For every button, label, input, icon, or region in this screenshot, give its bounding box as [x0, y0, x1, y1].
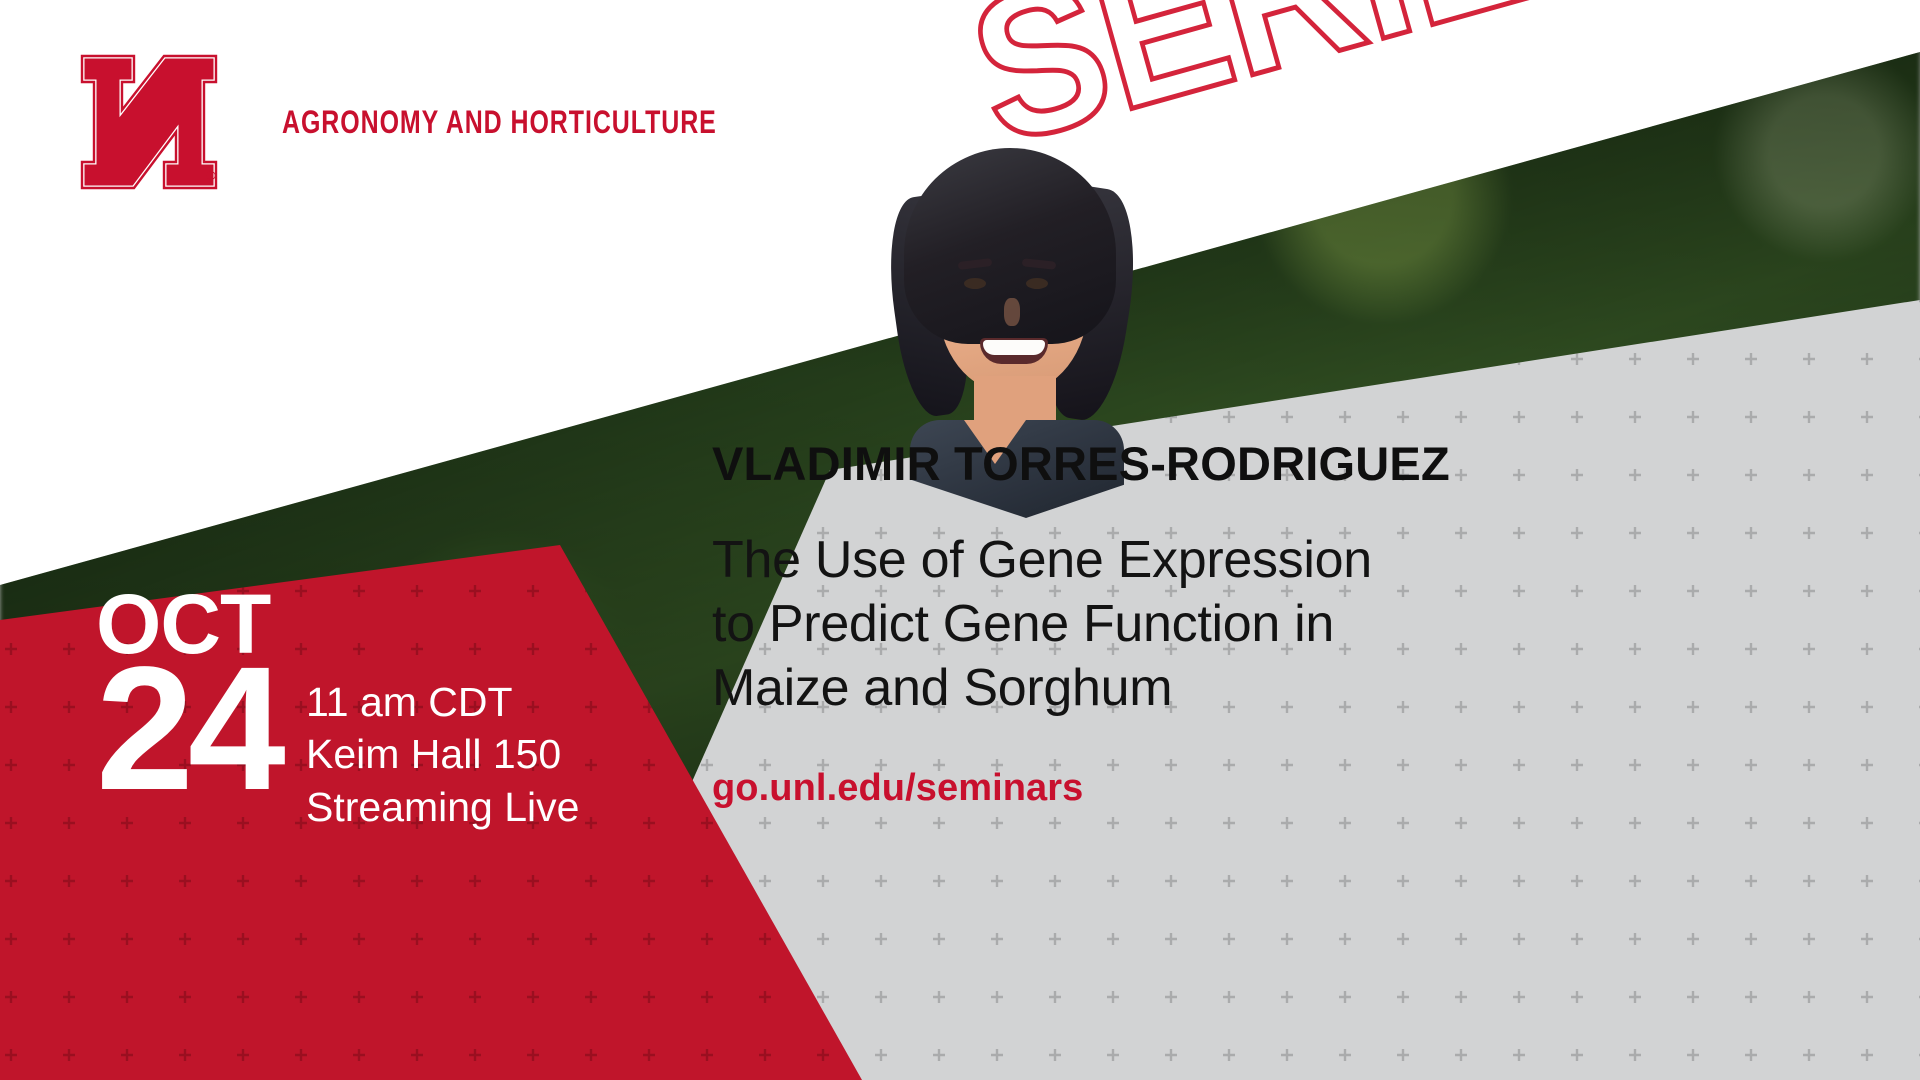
speaker-info: VLADIMIR TORRES-RODRIGUEZ The Use of Gen… [712, 440, 1532, 810]
seminar-title: The Use of Gene Expression to Predict Ge… [712, 529, 1532, 721]
headline-series: SERIES [955, 0, 1669, 169]
seminars-url-link[interactable]: go.unl.edu/seminars [712, 767, 1532, 810]
nebraska-n-icon [78, 52, 220, 192]
registered-trademark-icon: ® [206, 168, 216, 183]
seminar-title-line-2: to Predict Gene Function in [712, 593, 1532, 657]
seminar-title-line-3: Maize and Sorghum [712, 657, 1532, 721]
event-details: 11 am CDT Keim Hall 150 Streaming Live [306, 676, 579, 833]
portrait-nose [1004, 298, 1020, 326]
event-day: 24 [96, 657, 280, 801]
seminar-title-line-1: The Use of Gene Expression [712, 529, 1532, 593]
event-streaming: Streaming Live [306, 781, 579, 833]
event-date: OCT 24 [96, 586, 280, 802]
seminar-flyer: SEMINARSERIES [0, 0, 1920, 1080]
portrait-mouth [980, 338, 1048, 364]
event-location: Keim Hall 150 [306, 728, 579, 780]
portrait-eye-left [964, 278, 986, 289]
speaker-name: VLADIMIR TORRES-RODRIGUEZ [712, 440, 1532, 487]
portrait-eye-right [1026, 278, 1048, 289]
portrait-teeth [983, 340, 1045, 355]
unl-logo: ® [78, 52, 220, 192]
event-time: 11 am CDT [306, 676, 579, 728]
department-name: AGRONOMY AND HORTICULTURE [282, 104, 717, 141]
